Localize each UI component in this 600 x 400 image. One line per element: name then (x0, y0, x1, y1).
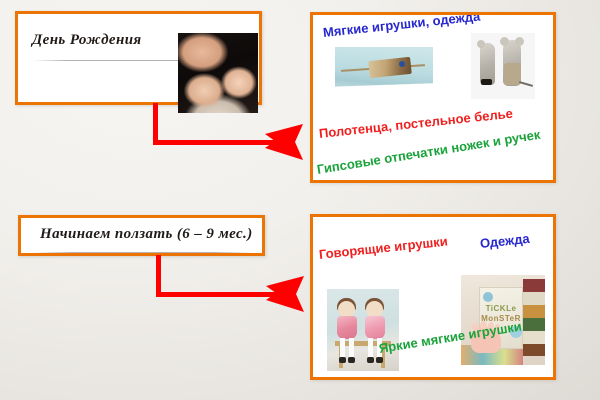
arrow-crawling-to-gifts (156, 255, 311, 303)
book-stripe (523, 292, 545, 305)
folded-blanket-photo (335, 47, 433, 107)
mouse-rattle-toys-photo (471, 33, 535, 99)
book-stripe (523, 331, 545, 344)
slide-canvas: День Рождения Мягкие игрушки, одежда (0, 0, 600, 400)
rag-dolls-photo (327, 289, 399, 371)
arrow-vertical-segment (153, 103, 158, 145)
book-stripe (523, 305, 545, 318)
book-art-blob (483, 292, 493, 302)
doll-dress (365, 316, 385, 339)
mouse-ear (477, 40, 485, 48)
caption-clothes: Одежда (479, 231, 530, 251)
caption-talking-toys: Говорящие игрушки (318, 234, 448, 262)
doll-leg (368, 338, 373, 358)
content-panel-crawling-gifts[interactable]: TiCKLe MonSTeR Говорящие игрушки Одежда … (310, 214, 556, 380)
doll-leg (349, 338, 354, 358)
book-stripe (523, 279, 545, 292)
title-text-birthday: День Рождения (32, 32, 142, 49)
book-title-line1: TiCKLe (480, 304, 522, 313)
mouse-foot (481, 79, 492, 85)
title-text-crawling: Начинаем ползать (6 – 9 мес.) (40, 226, 253, 243)
mouse-ear (500, 37, 509, 46)
arrow-horizontal-segment (153, 140, 275, 145)
doll-dress (337, 316, 357, 339)
tickle-monster-book-photo: TiCKLe MonSTeR (461, 275, 545, 365)
doll-shoe (348, 357, 355, 363)
book-stripe (523, 344, 545, 356)
title-box-birthday[interactable]: День Рождения (15, 11, 262, 105)
title-box-crawling[interactable]: Начинаем ползать (6 – 9 мес.) (18, 215, 265, 256)
mouse-tail (519, 81, 533, 87)
doll-leg (340, 338, 345, 358)
book-stripe (523, 318, 545, 331)
blanket-tag (368, 57, 412, 78)
mother-and-baby-photo (178, 33, 258, 113)
blanket-bead (399, 61, 405, 67)
caption-soft-toys-clothes: Мягкие игрушки, одежда (322, 12, 481, 40)
title-underline (33, 252, 253, 253)
content-panel-birthday-gifts[interactable]: Мягкие игрушки, одежда Полотенца, постел… (310, 12, 556, 183)
mouse-ear (515, 37, 524, 46)
arrow-horizontal-segment (156, 292, 276, 297)
arrow-birthday-to-gifts (153, 103, 308, 151)
doll-shoe (339, 357, 346, 363)
arrow-vertical-segment (156, 255, 161, 297)
doll-shoe (367, 357, 374, 363)
doll-shoe (376, 357, 383, 363)
